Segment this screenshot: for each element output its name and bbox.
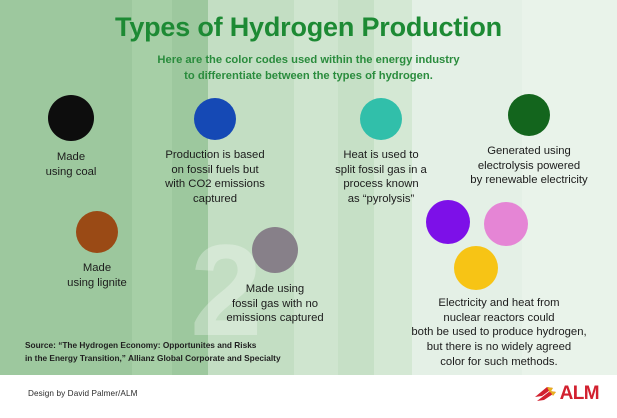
pink-dot-icon bbox=[484, 202, 528, 246]
item-blue-line-3: captured bbox=[139, 192, 291, 207]
item-turquoise-line-0: Heat is used to bbox=[311, 148, 451, 163]
item-turquoise-label: Heat is used to split fossil gas in a pr… bbox=[311, 148, 451, 207]
item-nuclear-cluster: Electricity and heat from nuclear reacto… bbox=[385, 200, 613, 369]
turquoise-dot-icon bbox=[360, 98, 402, 140]
item-brown-label: Made using lignite bbox=[32, 261, 162, 290]
design-credit: Design by David Palmer/ALM bbox=[28, 389, 138, 398]
item-green-label: Generated using electrolysis powered by … bbox=[446, 144, 612, 188]
item-turquoise-line-2: process known bbox=[311, 177, 451, 192]
coal-dot-icon bbox=[48, 95, 94, 141]
item-turquoise-pyrolysis: Heat is used to split fossil gas in a pr… bbox=[311, 98, 451, 207]
item-nuclear-line-4: color for such methods. bbox=[385, 355, 613, 370]
item-green-line-2: by renewable electricity bbox=[446, 173, 612, 188]
item-grey-label: Made using fossil gas with no emissions … bbox=[195, 282, 355, 326]
item-grey-fossil-gas: Made using fossil gas with no emissions … bbox=[195, 227, 355, 326]
item-green-line-1: electrolysis powered bbox=[446, 159, 612, 174]
item-nuclear-label: Electricity and heat from nuclear reacto… bbox=[385, 296, 613, 369]
item-nuclear-line-1: nuclear reactors could bbox=[385, 311, 613, 326]
brown-dot-icon bbox=[76, 211, 118, 253]
purple-dot-icon bbox=[426, 200, 470, 244]
item-grey-line-0: Made using bbox=[195, 282, 355, 297]
blue-dot-icon bbox=[194, 98, 236, 140]
item-blue-ccs-label: Production is based on fossil fuels but … bbox=[139, 148, 291, 207]
item-blue-line-0: Production is based bbox=[139, 148, 291, 163]
grey-dot-icon bbox=[252, 227, 298, 273]
item-green-electrolysis: Generated using electrolysis powered by … bbox=[446, 94, 612, 188]
source-note: Source: “The Hydrogen Economy: Opportuni… bbox=[25, 339, 281, 365]
item-blue-line-2: with CO2 emissions bbox=[139, 177, 291, 192]
page-title: Types of Hydrogen Production bbox=[0, 12, 617, 43]
alm-swoosh-icon bbox=[534, 384, 558, 404]
alm-logo-text: ALM bbox=[560, 383, 599, 405]
item-brown-line-0: Made bbox=[32, 261, 162, 276]
item-turquoise-line-1: split fossil gas in a bbox=[311, 163, 451, 178]
item-brown-lignite: Made using lignite bbox=[32, 211, 162, 290]
footer-bar: Design by David Palmer/ALM ALM bbox=[0, 375, 617, 418]
item-coal-line-0: Made bbox=[6, 150, 136, 165]
subtitle-line-2: to differentiate between the types of hy… bbox=[0, 68, 617, 84]
item-coal-line-1: using coal bbox=[6, 165, 136, 180]
subtitle-line-1: Here are the color codes used within the… bbox=[0, 52, 617, 68]
item-nuclear-line-2: both be used to produce hydrogen, bbox=[385, 325, 613, 340]
infographic-root: 2 Types of Hydrogen Production Here are … bbox=[0, 0, 617, 418]
item-grey-line-2: emissions captured bbox=[195, 311, 355, 326]
item-coal-label: Made using coal bbox=[6, 150, 136, 179]
yellow-dot-icon bbox=[454, 246, 498, 290]
alm-logo: ALM bbox=[534, 383, 599, 405]
source-line-1: Source: “The Hydrogen Economy: Opportuni… bbox=[25, 339, 281, 352]
item-green-line-0: Generated using bbox=[446, 144, 612, 159]
source-line-2: in the Energy Transition,” Allianz Globa… bbox=[25, 352, 281, 365]
item-grey-line-1: fossil gas with no bbox=[195, 297, 355, 312]
item-blue-ccs: Production is based on fossil fuels but … bbox=[139, 98, 291, 207]
item-nuclear-line-3: but there is no widely agreed bbox=[385, 340, 613, 355]
item-coal: Made using coal bbox=[6, 95, 136, 179]
green-dot-icon bbox=[508, 94, 550, 136]
page-subtitle: Here are the color codes used within the… bbox=[0, 52, 617, 84]
item-blue-line-1: on fossil fuels but bbox=[139, 163, 291, 178]
item-brown-line-1: using lignite bbox=[32, 276, 162, 291]
